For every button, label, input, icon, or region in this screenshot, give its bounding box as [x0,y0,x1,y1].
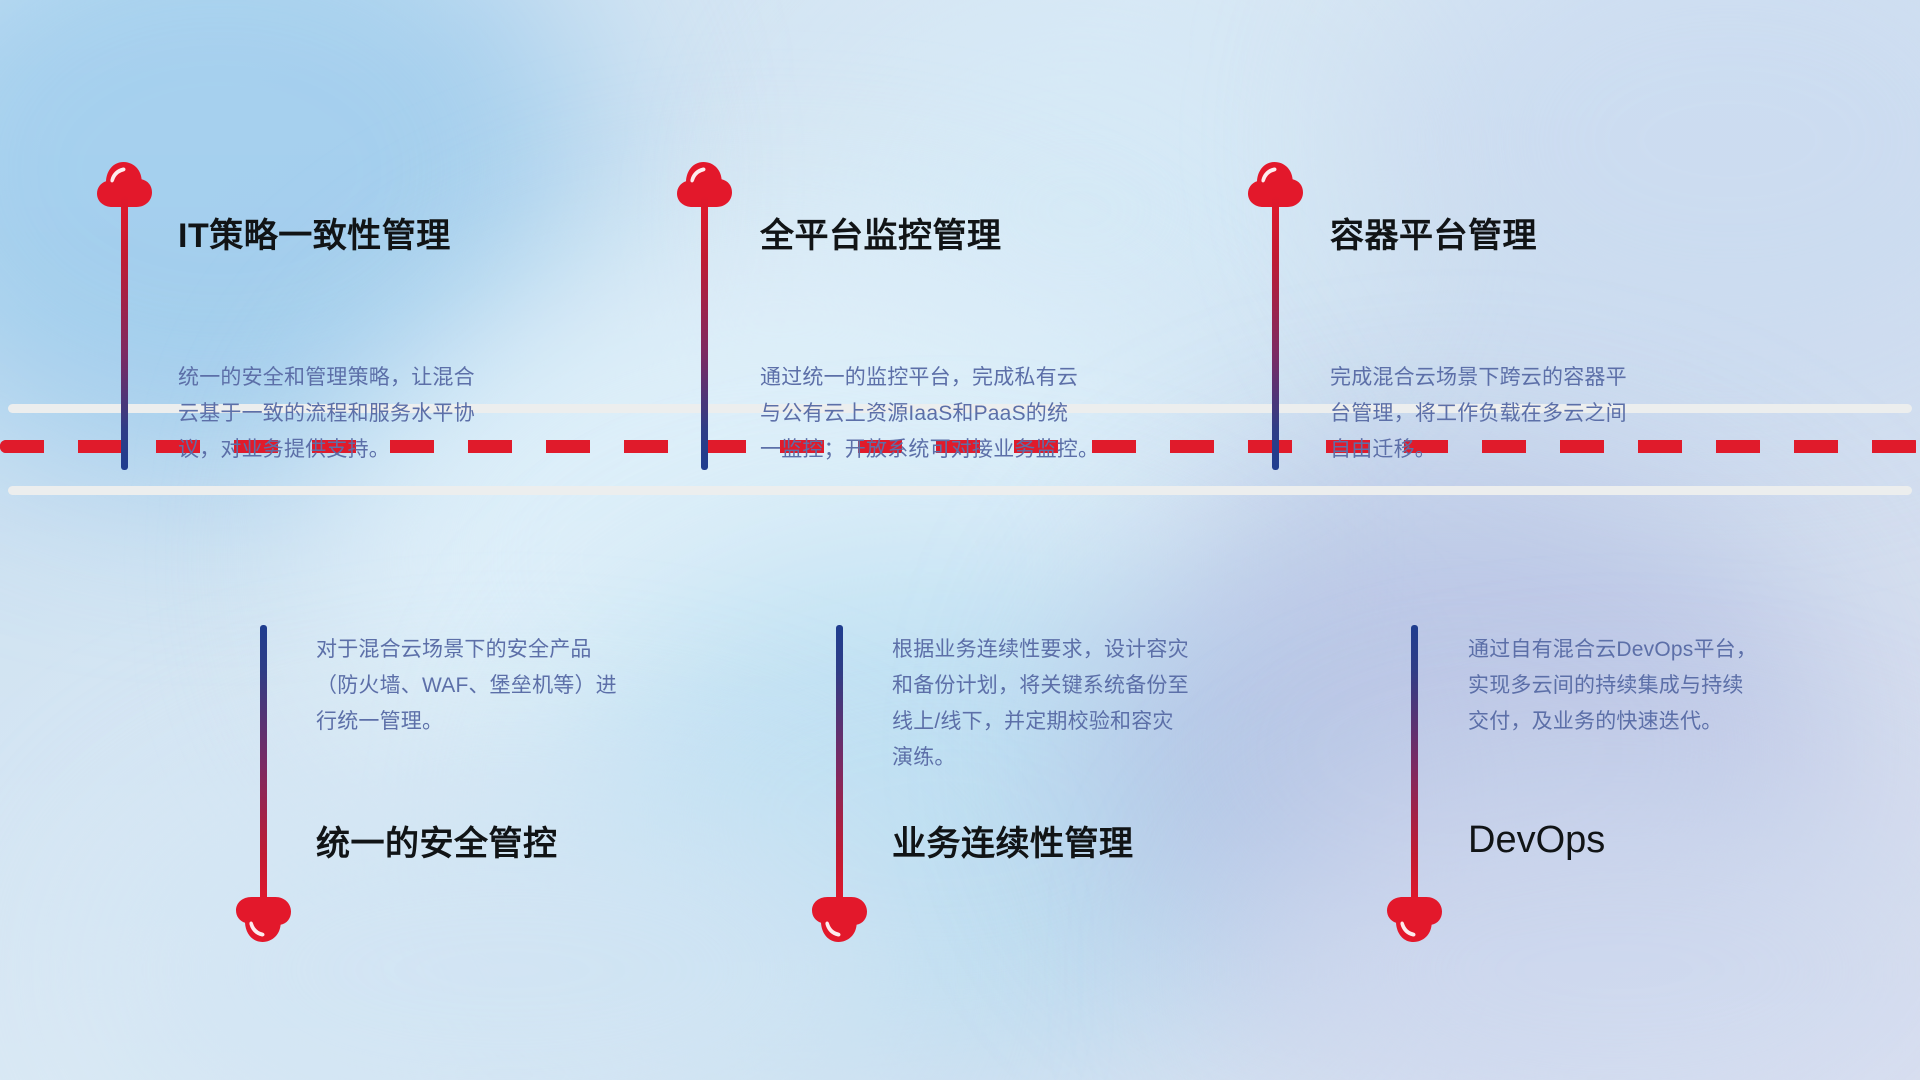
body-line: 台管理，将工作负载在多云之间 [1330,396,1627,432]
body-line: （防火墙、WAF、堡垒机等）进 [316,668,617,704]
gradient-stem [1272,196,1279,470]
body-line: 演练。 [892,740,1189,776]
feature-body: 完成混合云场景下跨云的容器平 台管理，将工作负载在多云之间 自由迁移。 [1330,360,1627,468]
gradient-stem [260,625,267,905]
body-line: 与公有云上资源IaaS和PaaS的统 [760,396,1099,432]
feature-title: 统一的安全管控 [316,826,558,863]
body-line: 一监控；开放系统可对接业务监控。 [760,432,1099,468]
feature-title: DevOps [1468,820,1605,862]
cloud-icon [807,896,871,944]
body-line: 自由迁移。 [1330,432,1627,468]
feature-body: 通过统一的监控平台，完成私有云 与公有云上资源IaaS和PaaS的统 一监控；开… [760,360,1099,468]
body-line: 交付，及业务的快速迭代。 [1468,704,1757,740]
body-line: 云基于一致的流程和服务水平协 [178,396,475,432]
pin-stem-wrapper [256,625,270,905]
body-line: 和备份计划，将关键系统备份至 [892,668,1189,704]
gradient-stem [1411,625,1418,905]
divider-rule-bottom [8,486,1912,495]
body-line: 线上/线下，并定期校验和容灾 [892,704,1189,740]
pin-stem-wrapper [832,625,846,905]
body-line: 根据业务连续性要求，设计容灾 [892,632,1189,668]
body-line: 对于混合云场景下的安全产品 [316,632,617,668]
cloud-icon [1382,896,1446,944]
feature-body: 统一的安全和管理策略，让混合 云基于一致的流程和服务水平协 议，对业务提供支持。 [178,360,475,468]
pin-stem-wrapper [1268,196,1282,470]
body-line: 通过统一的监控平台，完成私有云 [760,360,1099,396]
body-line: 实现多云间的持续集成与持续 [1468,668,1757,704]
body-line: 统一的安全和管理策略，让混合 [178,360,475,396]
feature-title: 业务连续性管理 [892,826,1134,863]
feature-body: 对于混合云场景下的安全产品 （防火墙、WAF、堡垒机等）进 行统一管理。 [316,632,617,740]
feature-title: 全平台监控管理 [760,218,1002,255]
pin-stem-wrapper [117,196,131,470]
pin-stem-wrapper [1407,625,1421,905]
body-line: 议，对业务提供支持。 [178,432,475,468]
gradient-stem [701,196,708,470]
gradient-stem [836,625,843,905]
body-line: 行统一管理。 [316,704,617,740]
cloud-icon [231,896,295,944]
gradient-stem [121,196,128,470]
feature-body: 根据业务连续性要求，设计容灾 和备份计划，将关键系统备份至 线上/线下，并定期校… [892,632,1189,776]
feature-title: 容器平台管理 [1330,218,1537,255]
feature-title: IT策略一致性管理 [178,218,451,255]
body-line: 完成混合云场景下跨云的容器平 [1330,360,1627,396]
feature-body: 通过自有混合云DevOps平台， 实现多云间的持续集成与持续 交付，及业务的快速… [1468,632,1757,740]
body-line: 通过自有混合云DevOps平台， [1468,632,1757,668]
pin-stem-wrapper [697,196,711,470]
